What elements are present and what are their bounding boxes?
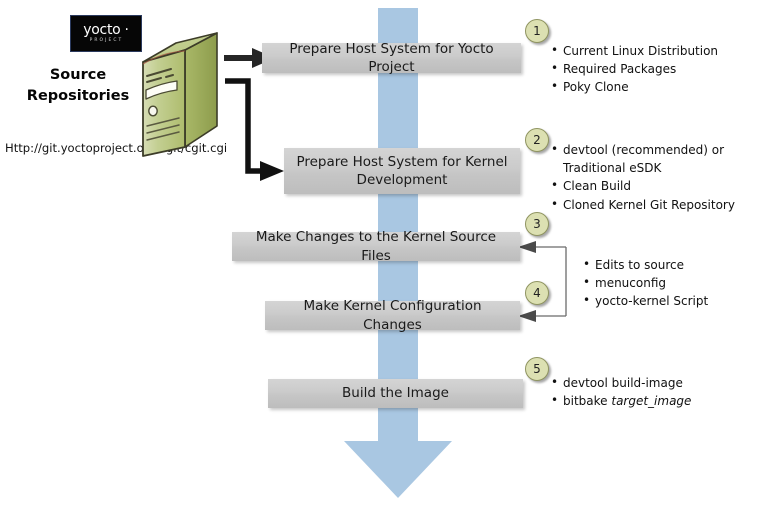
step-number-2: 2 [525,128,549,152]
process-box-step4-label: Make Kernel Configuration Changes [275,297,510,333]
list-item: Cloned Kernel Git Repository [551,196,735,214]
step-number-1: 1 [525,19,549,43]
step2-bullet1-line2: Traditional eSDK [551,159,735,177]
source-label-line1: Source [18,65,138,86]
arrowhead-to-step2 [260,161,284,181]
step-number-5: 5 [525,357,549,381]
step2-bullet-list: devtool (recommended) or Traditional eSD… [551,141,735,214]
arrowhead-to-step3 [518,241,536,253]
list-item: yocto-kernel Script [583,292,708,310]
process-box-step1[interactable]: Prepare Host System for Yocto Project [262,43,521,73]
steps-3-4-bullet-list: Edits to source menuconfig yocto-kernel … [583,256,708,311]
source-repositories-label: Source Repositories [18,65,138,107]
list-item: Edits to source [583,256,708,274]
source-label-line2: Repositories [18,86,138,107]
process-box-step2-line1: Prepare Host System for Kernel [296,153,507,171]
server-tower-icon [131,28,227,158]
list-item: devtool (recommended) or [551,141,735,159]
process-box-step1-label: Prepare Host System for Yocto Project [272,40,511,76]
list-item: Current Linux Distribution [551,42,718,60]
step-number-4: 4 [525,281,549,305]
process-box-step3-label: Make Changes to the Kernel Source Files [242,228,510,264]
flow-arrow-head [344,441,452,498]
list-item: Clean Build [551,177,735,195]
list-item: menuconfig [583,274,708,292]
process-box-step2[interactable]: Prepare Host System for Kernel Developme… [284,148,520,194]
logo-wordmark: yocto · [83,23,128,37]
arrowhead-to-step4 [518,310,536,322]
process-box-step5-label: Build the Image [342,384,449,402]
step5-bullet2-prefix: bitbake [563,394,611,408]
list-item: Required Packages [551,60,718,78]
step2-bullet1-line1: devtool (recommended) or [563,143,724,157]
list-item: bitbake target_image [551,392,691,410]
process-box-step2-line2: Development [357,171,448,189]
process-box-step4[interactable]: Make Kernel Configuration Changes [265,301,520,330]
step5-bullet2-italic: target_image [611,394,691,408]
list-item: Poky Clone [551,78,718,96]
process-box-step5[interactable]: Build the Image [268,379,523,408]
logo-subtext: PROJECT [90,39,124,43]
step-number-3: 3 [525,212,549,236]
list-item: devtool build-image [551,374,691,392]
diagram-canvas: yocto · PROJECT Source Repositories Http… [0,0,769,517]
process-box-step3[interactable]: Make Changes to the Kernel Source Files [232,232,520,261]
step5-bullet-list: devtool build-image bitbake target_image [551,374,691,410]
step1-bullet-list: Current Linux Distribution Required Pack… [551,42,718,97]
